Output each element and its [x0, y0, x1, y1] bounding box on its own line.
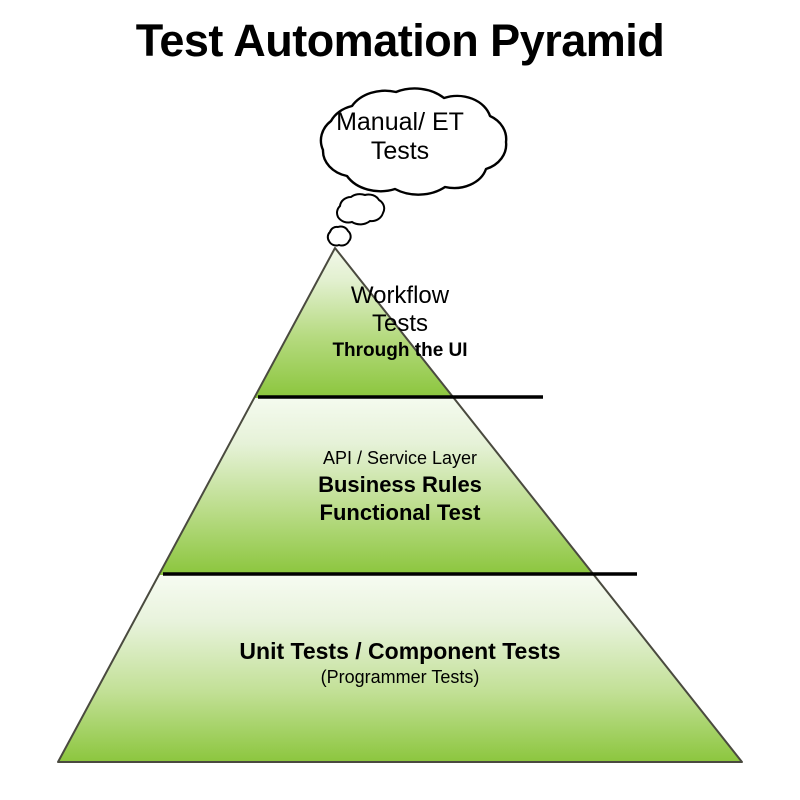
tier-service-label: API / Service Layer Business Rules Funct… [200, 448, 600, 526]
tier-unit-label: Unit Tests / Component Tests (Programmer… [150, 638, 650, 688]
tier-service-line-2: Business Rules [200, 472, 600, 498]
tier-unit-line-2: (Programmer Tests) [150, 667, 650, 688]
thought-puff-small [328, 226, 351, 245]
tier-workflow-line-1: Workflow [235, 282, 565, 310]
diagram-canvas: Test Automation Pyramid [0, 0, 800, 800]
thought-bubble-text: Manual/ ET Tests [290, 108, 510, 166]
thought-bubble-line-1: Manual/ ET [290, 108, 510, 137]
tier-workflow-line-3: Through the UI [235, 340, 565, 362]
tier-service-line-3: Functional Test [200, 500, 600, 526]
tier-unit-line-1: Unit Tests / Component Tests [150, 638, 650, 665]
tier-workflow-line-2: Tests [235, 310, 565, 338]
thought-puff-medium [337, 194, 384, 224]
tier-workflow-label: Workflow Tests Through the UI [235, 282, 565, 362]
thought-bubble-line-2: Tests [290, 137, 510, 166]
tier-service-line-1: API / Service Layer [200, 448, 600, 469]
